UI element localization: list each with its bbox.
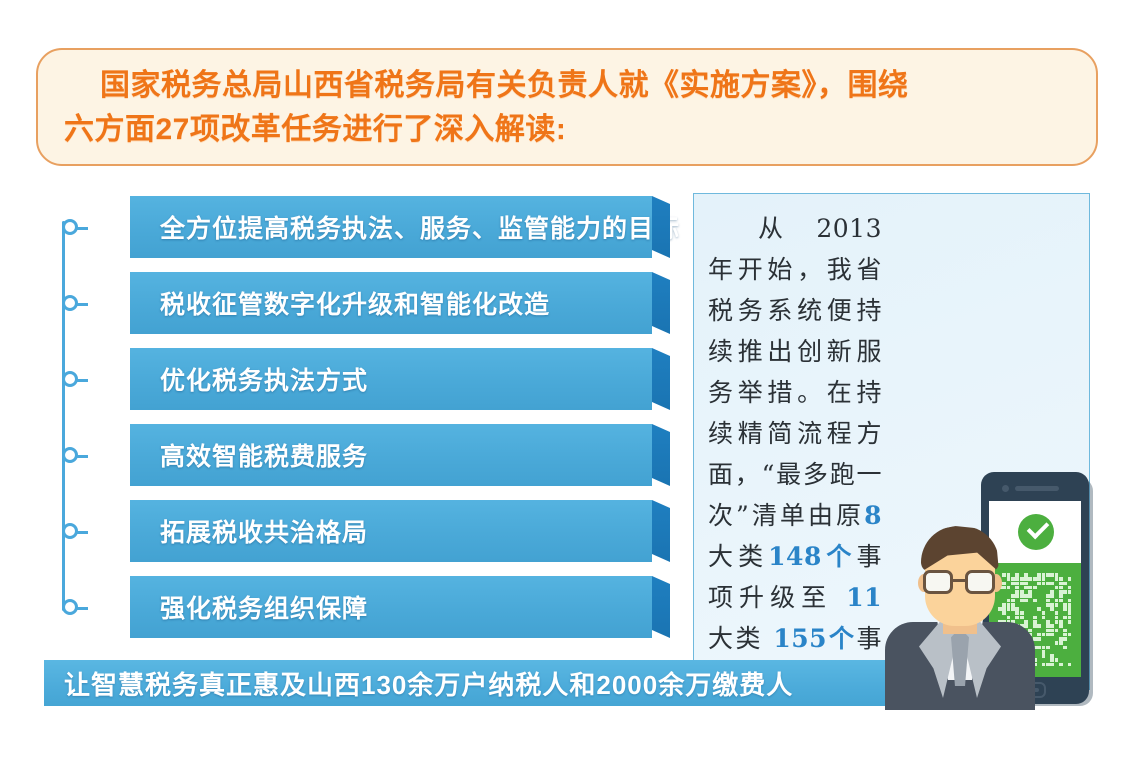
footer-label: 让智慧税务真正惠及山西130余万户纳税人和2000余万缴费人 [64, 665, 793, 702]
task-item-1[interactable]: 全方位提高税务执法、服务、监管能力的目标 [130, 196, 682, 258]
tree-node-4 [62, 447, 78, 463]
task-bar-5[interactable]: 拓展税收共治格局 [130, 500, 652, 562]
task-label-2: 税收征管数字化升级和智能化改造 [160, 285, 550, 321]
illustration [885, 468, 1095, 710]
tree-node-3 [62, 371, 78, 387]
task-label-4: 高效智能税费服务 [160, 437, 368, 473]
footer-banner: 让智慧税务真正惠及山西130余万户纳税人和2000余万缴费人 [44, 660, 910, 706]
task-list: 全方位提高税务执法、服务、监管能力的目标 税收征管数字化升级和智能化改造 优化税… [130, 196, 682, 652]
task-item-6[interactable]: 强化税务组织保障 [130, 576, 682, 638]
task-item-2[interactable]: 税收征管数字化升级和智能化改造 [130, 272, 682, 334]
glasses-icon [921, 570, 999, 596]
task-bar-side-3 [652, 348, 670, 410]
task-bar-side-1 [652, 196, 670, 258]
task-label-3: 优化税务执法方式 [160, 361, 368, 397]
phone-camera-icon [1002, 485, 1009, 492]
glasses-lens-right [965, 570, 995, 594]
task-bar-side-6 [652, 576, 670, 638]
title-line-2: 六方面27项改革任务进行了深入解读: [64, 108, 1070, 152]
task-bar-2[interactable]: 税收征管数字化升级和智能化改造 [130, 272, 652, 334]
businessman-avatar [885, 516, 1035, 710]
task-bar-3[interactable]: 优化税务执法方式 [130, 348, 652, 410]
task-bar-6[interactable]: 强化税务组织保障 [130, 576, 652, 638]
task-bar-1[interactable]: 全方位提高税务执法、服务、监管能力的目标 [130, 196, 652, 258]
task-item-3[interactable]: 优化税务执法方式 [130, 348, 682, 410]
tree-node-5 [62, 523, 78, 539]
connector-tree [62, 205, 124, 625]
task-label-5: 拓展税收共治格局 [160, 513, 368, 549]
infographic-canvas: 国家税务总局山西省税务局有关负责人就《实施方案》，围绕 六方面27项改革任务进行… [0, 0, 1136, 760]
tree-node-1 [62, 219, 78, 235]
task-label-1: 全方位提高税务执法、服务、监管能力的目标 [160, 209, 680, 245]
tree-node-2 [62, 295, 78, 311]
tree-node-6 [62, 599, 78, 615]
task-item-5[interactable]: 拓展税收共治格局 [130, 500, 682, 562]
title-box: 国家税务总局山西省税务局有关负责人就《实施方案》，围绕 六方面27项改革任务进行… [36, 48, 1098, 166]
task-item-4[interactable]: 高效智能税费服务 [130, 424, 682, 486]
page-title: 国家税务总局山西省税务局有关负责人就《实施方案》，围绕 六方面27项改革任务进行… [64, 64, 1070, 152]
tree-spine [62, 221, 65, 611]
footer-bar: 让智慧税务真正惠及山西130余万户纳税人和2000余万缴费人 [44, 660, 890, 706]
task-label-6: 强化税务组织保障 [160, 589, 368, 625]
glasses-lens-left [923, 570, 953, 594]
title-line-1: 国家税务总局山西省税务局有关负责人就《实施方案》，围绕 [64, 64, 1070, 108]
task-bar-side-4 [652, 424, 670, 486]
task-bar-side-5 [652, 500, 670, 562]
task-bar-side-2 [652, 272, 670, 334]
phone-speaker-icon [1015, 486, 1059, 491]
task-bar-4[interactable]: 高效智能税费服务 [130, 424, 652, 486]
